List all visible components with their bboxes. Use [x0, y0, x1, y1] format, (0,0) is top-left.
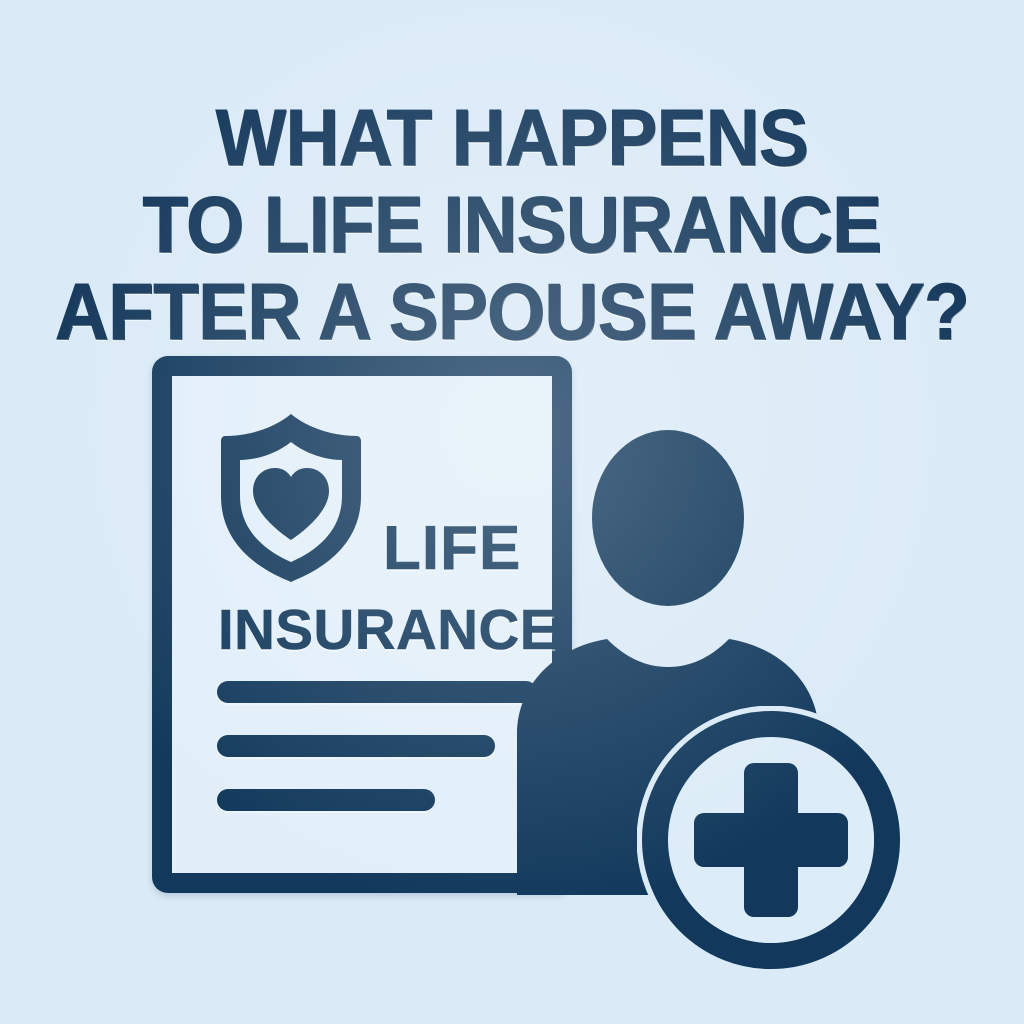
- policy-line-1: [217, 681, 537, 703]
- headline-line-2: TO LIFE INSURANCE: [36, 181, 988, 268]
- shield-with-heart-icon: [215, 412, 367, 584]
- headline-line-3: AFTER A SPOUSE AWAY?: [36, 268, 988, 355]
- page-title: WHAT HAPPENS TO LIFE INSURANCE AFTER A S…: [0, 94, 1024, 355]
- headline-line-1: WHAT HAPPENS: [36, 94, 988, 181]
- policy-line-3: [217, 789, 435, 811]
- badge-symbol: +: [637, 974, 638, 975]
- policy-line-2: [217, 735, 495, 757]
- plus-in-circle-badge-icon: +: [637, 706, 905, 974]
- document-text-lines: [217, 681, 537, 843]
- poster-canvas: WHAT HAPPENS TO LIFE INSURANCE AFTER A S…: [0, 0, 1024, 1024]
